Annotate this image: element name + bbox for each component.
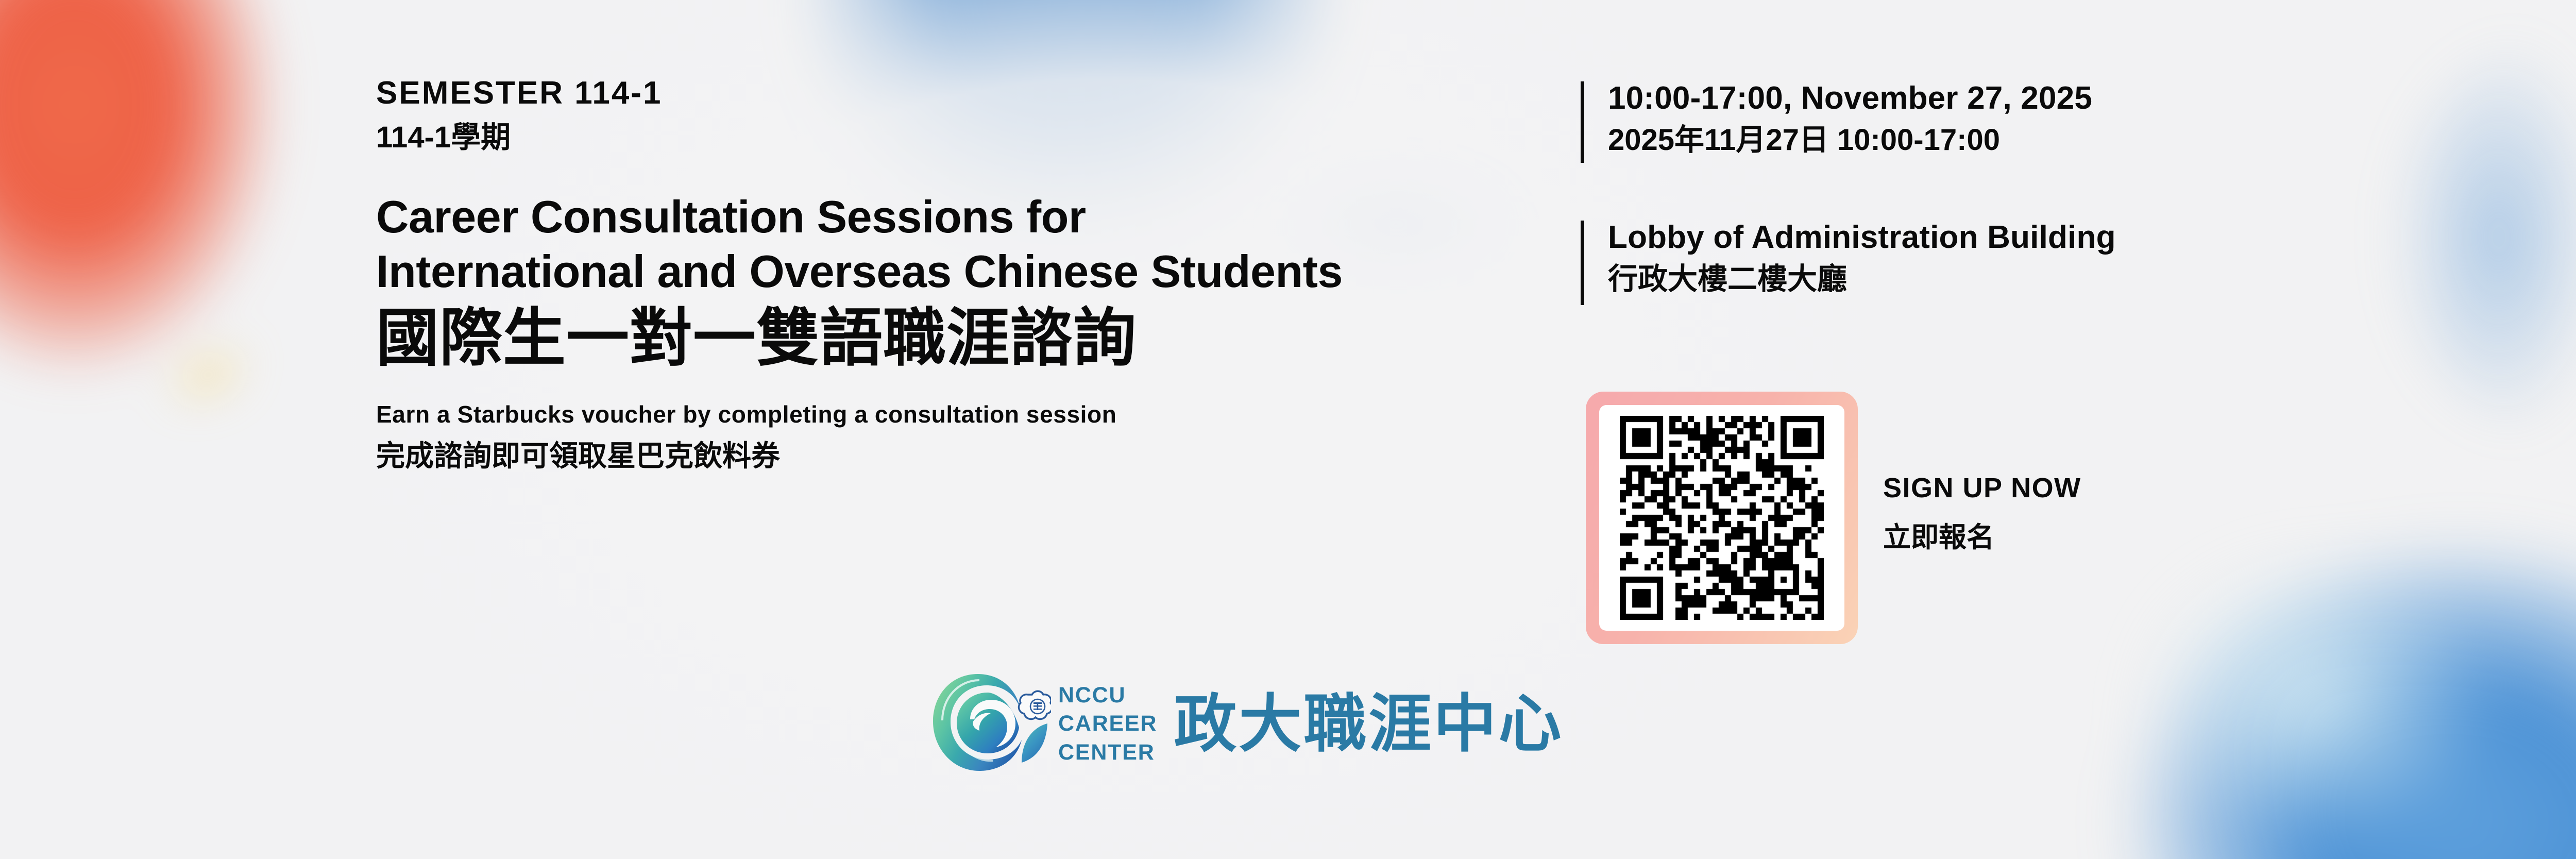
nccu-seal-icon — [1019, 691, 1051, 719]
qr-code-icon[interactable] — [1620, 416, 1824, 620]
qr-code-frame[interactable] — [1586, 392, 1858, 644]
career-center-swirl-icon — [930, 670, 1051, 778]
qr-code-surface[interactable] — [1599, 405, 1844, 631]
datetime-block: 10:00-17:00, November 27, 2025 2025年11月2… — [1581, 81, 2092, 163]
signup-callout: SIGN UP NOW 立即報名 — [1883, 474, 2081, 551]
semester-label-en: SEMESTER 114-1 — [376, 77, 1343, 109]
signup-label-en: SIGN UP NOW — [1883, 474, 2081, 502]
event-title-en: Career Consultation Sessions for Interna… — [376, 190, 1343, 298]
event-title-en-line2: International and Overseas Chinese Stude… — [376, 244, 1343, 299]
event-title-zh: 國際生一對一雙語職涯諮詢 — [376, 304, 1343, 373]
event-poster-banner: SEMESTER 114-1 114-1學期 Career Consultati… — [0, 0, 2576, 859]
venue-en: Lobby of Administration Building — [1608, 221, 2116, 255]
signup-label-zh: 立即報名 — [1883, 524, 2081, 551]
logo-line-nccu: NCCU — [1058, 681, 1157, 710]
semester-label-zh: 114-1學期 — [376, 123, 1343, 153]
incentive-text-en: Earn a Starbucks voucher by completing a… — [376, 401, 1343, 428]
datetime-zh: 2025年11月27日 10:00-17:00 — [1608, 124, 2092, 157]
logo-line-career: CAREER — [1058, 710, 1157, 738]
headline-column: SEMESTER 114-1 114-1學期 Career Consultati… — [376, 77, 1343, 472]
event-title-en-line1: Career Consultation Sessions for — [376, 190, 1343, 244]
venue-divider-rule — [1581, 221, 1584, 305]
datetime-divider-rule — [1581, 81, 1584, 163]
venue-block: Lobby of Administration Building 行政大樓二樓大… — [1581, 221, 2116, 305]
venue-zh: 行政大樓二樓大廳 — [1608, 263, 2116, 296]
logo-line-center: CENTER — [1058, 738, 1157, 767]
datetime-en: 10:00-17:00, November 27, 2025 — [1608, 81, 2092, 116]
logo-wordmark-zh: 政大職涯中心 — [1174, 693, 1563, 755]
incentive-text-zh: 完成諮詢即可領取星巴克飲料券 — [376, 440, 1343, 472]
nccu-career-center-logo: NCCU CAREER CENTER 政大職涯中心 — [930, 670, 1563, 778]
logo-wordmark-en: NCCU CAREER CENTER — [1058, 681, 1157, 766]
